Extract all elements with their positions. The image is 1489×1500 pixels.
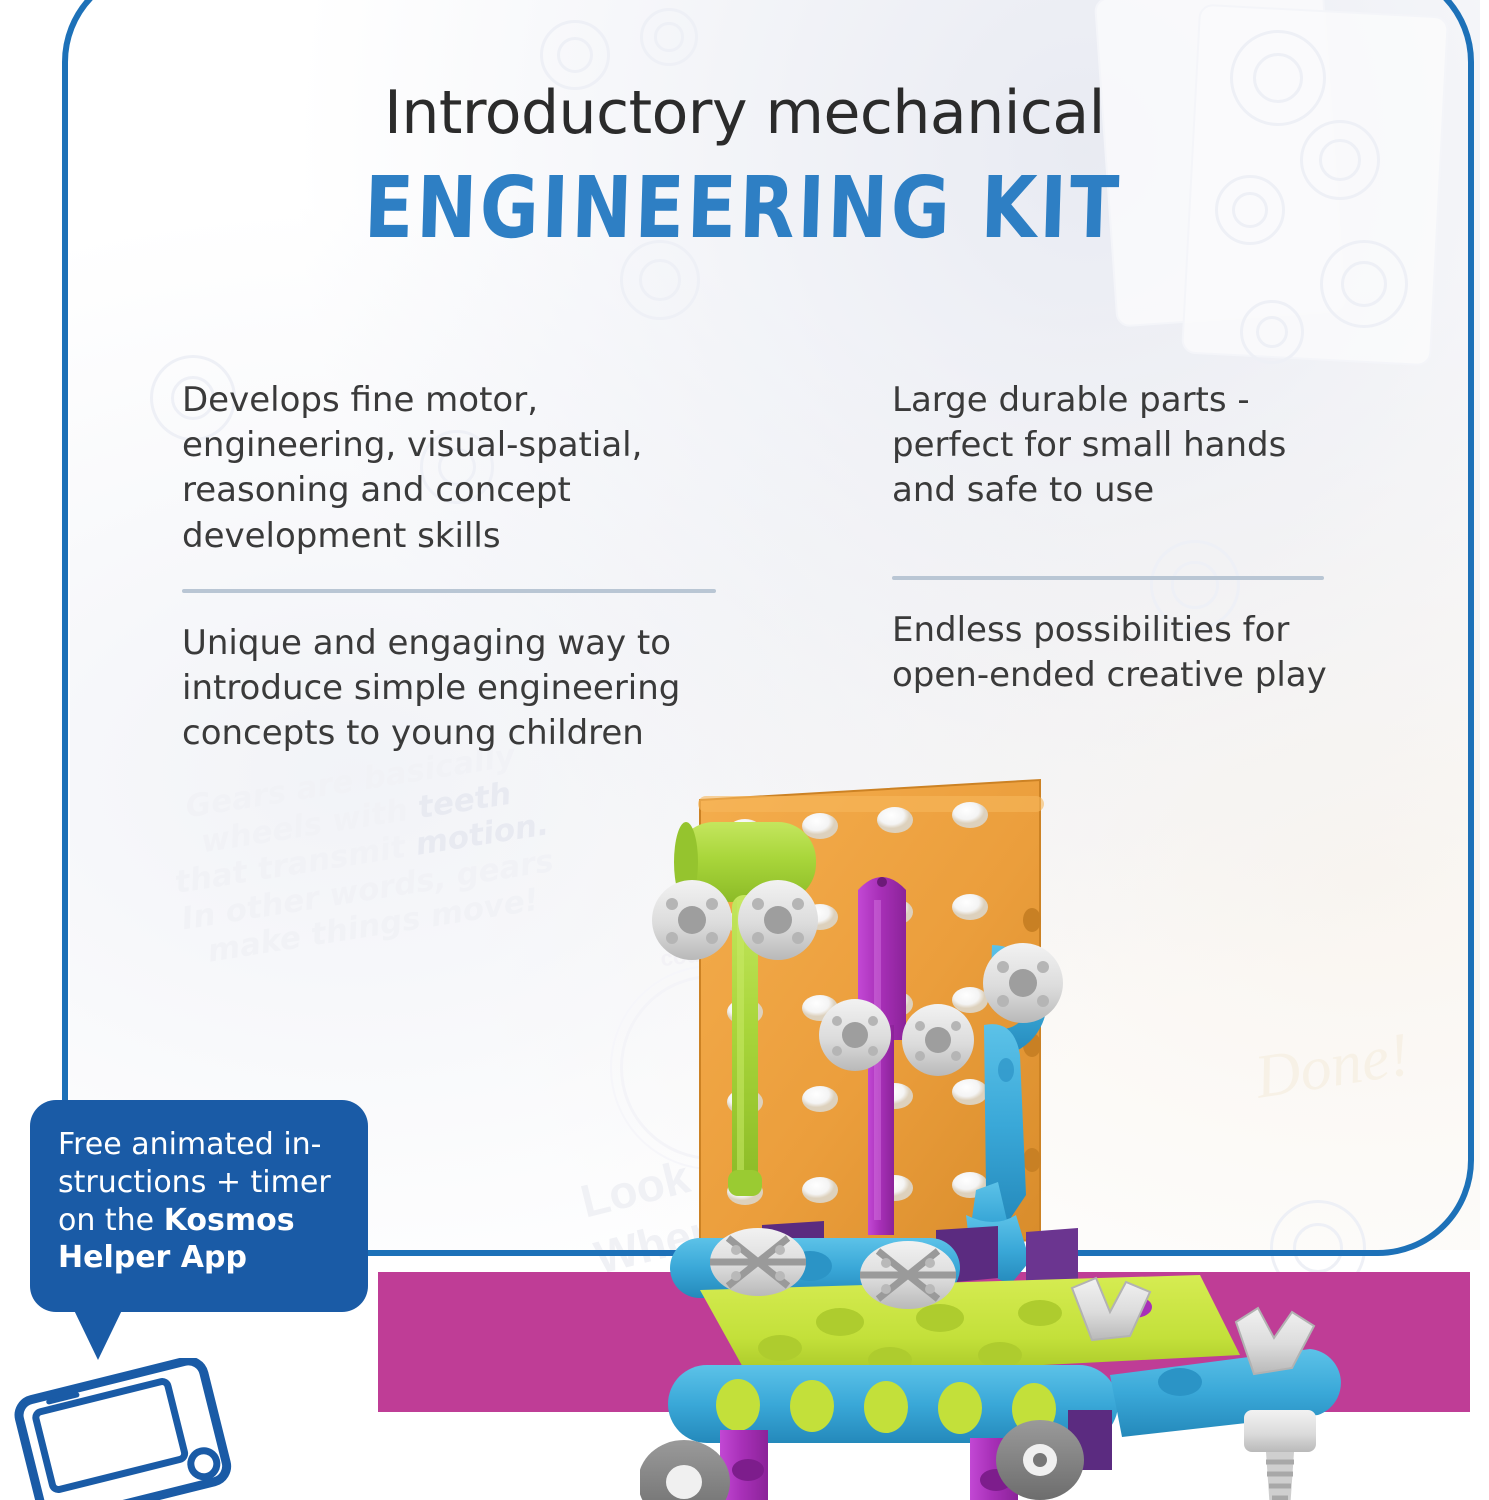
callout-tail [72, 1306, 124, 1360]
feature-divider [892, 576, 1324, 580]
callout-line-1: Free animated in- [58, 1127, 322, 1162]
watermark-line: make things move! [205, 882, 541, 970]
heading-block: Introductory mechanical ENGINEERING KIT [0, 0, 1489, 242]
feature-text: Unique and engaging way to introduce sim… [182, 621, 727, 757]
feature-item: Develops fine motor, engineering, visual… [182, 378, 727, 559]
watermark-gears-note: Gears are basically wheels with teeth th… [150, 732, 574, 975]
feature-item: Large durable parts - perfect for small … [892, 378, 1337, 546]
watermark-line: that transmit [172, 827, 418, 901]
feature-column-right: Large durable parts - perfect for small … [892, 378, 1337, 757]
feature-divider [182, 589, 716, 593]
feature-text: Develops fine motor, engineering, visual… [182, 378, 727, 559]
callout-line-3-prefix: on the [58, 1203, 164, 1238]
screw-part [1244, 1410, 1316, 1500]
watermark-line-bold: motion. [413, 806, 551, 863]
product-feature-card: counterclockwise Gears are basically whe… [0, 0, 1489, 1500]
feature-column-left: Develops fine motor, engineering, visual… [182, 378, 727, 757]
product-photo [640, 770, 1489, 1500]
app-callout-text: Free animated in- structions + timer on … [58, 1126, 344, 1277]
feature-item: Unique and engaging way to introduce sim… [182, 621, 727, 757]
page-title-line2: ENGINEERING KIT [0, 158, 1489, 257]
watermark-line: wheels with [199, 790, 422, 860]
gear-icon [1240, 300, 1304, 364]
watermark-line: In other words, gears [179, 843, 556, 937]
page-title-line1: Introductory mechanical [0, 78, 1489, 148]
app-callout-bubble[interactable]: Free animated in- structions + timer on … [30, 1100, 368, 1312]
app-callout[interactable]: Free animated in- structions + timer on … [30, 1100, 368, 1312]
feature-text: Large durable parts - perfect for small … [892, 378, 1337, 514]
feature-grid: Develops fine motor, engineering, visual… [182, 378, 1337, 757]
feature-item: Endless possibilities for open-ended cre… [892, 608, 1337, 698]
watermark-line-bold: teeth [415, 775, 513, 825]
smartphone-icon [10, 1358, 300, 1500]
feature-text: Endless possibilities for open-ended cre… [892, 608, 1337, 698]
callout-app-name: Helper App [58, 1240, 247, 1275]
callout-brand-name: Kosmos [164, 1203, 295, 1238]
callout-line-2: structions + timer [58, 1165, 331, 1200]
